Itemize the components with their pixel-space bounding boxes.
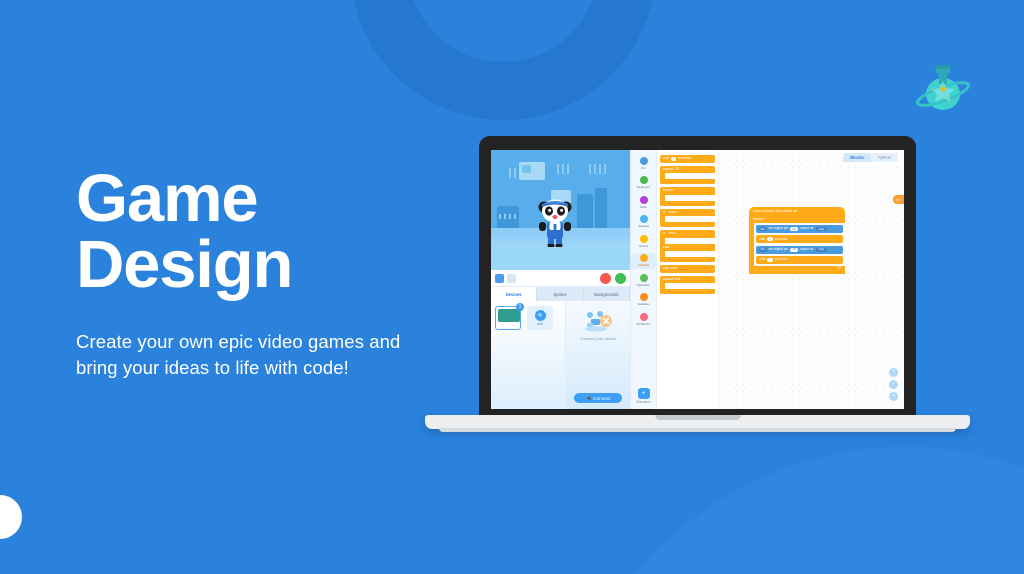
connect-message: Connect your device (580, 336, 616, 341)
category-serial-port[interactable]: Serial port (631, 175, 656, 191)
tab-backgrounds[interactable]: Backgrounds (584, 287, 630, 301)
block-tag: Pin (759, 227, 767, 231)
zoom-in-button[interactable]: + (889, 368, 898, 377)
category-label: Data (640, 205, 646, 209)
block-text: seconds (678, 157, 691, 161)
block-tag: Pin (759, 248, 767, 252)
block-text: repeat (663, 168, 673, 172)
zoom-out-button[interactable]: − (889, 380, 898, 389)
stage-controls (491, 270, 630, 287)
category-label: Pin (641, 166, 645, 170)
block-text: if (663, 232, 665, 236)
category-control[interactable]: Control (631, 253, 656, 269)
device-card[interactable]: 1 (495, 306, 521, 330)
plus-icon: + (535, 310, 546, 321)
lab-cabinet-2 (595, 188, 607, 228)
lab-window-3 (589, 164, 607, 174)
category-operators[interactable]: Operators (631, 272, 656, 288)
laptop-notch (655, 415, 741, 420)
category-dot-icon (640, 293, 648, 301)
connect-illustration (581, 309, 615, 333)
wait-block[interactable]: wait 1 seconds (756, 235, 843, 243)
category-dot-icon (640, 215, 648, 223)
block-head: if then (660, 230, 715, 238)
workspace-tabs: Blocks Python (843, 153, 898, 162)
headline-line-1: Game (76, 166, 416, 232)
category-dot-icon (640, 254, 648, 262)
forever-label: forever (749, 216, 845, 224)
laptop-foot (439, 428, 956, 432)
headline-line-2: Design (76, 232, 416, 298)
device-badge: 1 (516, 303, 524, 311)
page-title: Game Design (76, 166, 416, 299)
extension-area: + Extension (637, 388, 651, 404)
plug-icon: 🔌 (586, 395, 592, 401)
editor-left-column: Devices Sprites Backgrounds 1 + add (491, 150, 631, 409)
script-stack[interactable]: when Arduino Uno starts up forever Pin s… (749, 207, 845, 274)
connect-button[interactable]: 🔌 Connect (574, 393, 622, 403)
block-text: forever (663, 189, 674, 193)
state-dropdown[interactable]: high (816, 227, 828, 231)
forever-block[interactable]: forever Pin set digital pin 13 output as… (749, 216, 845, 274)
add-device-button[interactable]: + add (527, 306, 553, 330)
block-text: repeat until (663, 278, 680, 282)
block-input[interactable]: 10 (675, 168, 679, 172)
category-dot-icon (640, 196, 648, 204)
connect-panel: Connect your device 🔌 Connect (565, 301, 630, 409)
block-text: wait until (663, 267, 677, 271)
lab-grill (499, 214, 516, 219)
block-foot (660, 289, 715, 292)
loop-arrow-icon: ↺ (749, 266, 845, 270)
code-toggle-button[interactable]: </> (893, 195, 904, 204)
block-foot (660, 179, 715, 182)
device-panel: 1 + add (491, 301, 630, 409)
block-text: wait (663, 157, 669, 161)
code-workspace[interactable]: Blocks Python </> when Arduino Uno start… (719, 150, 904, 409)
block-foot (660, 257, 715, 260)
block-palette[interactable]: wait 1 seconds repeat 10 (657, 150, 719, 409)
block-text: wait (759, 238, 765, 241)
tab-devices[interactable]: Devices (491, 287, 537, 301)
add-device-label: add (537, 322, 543, 326)
tab-python[interactable]: Python (871, 153, 898, 162)
set-digital-pin-block[interactable]: Pin set digital pin 13 output as high (756, 246, 843, 254)
palette-block-wait-until[interactable]: wait until (660, 265, 715, 273)
palette-block-forever[interactable]: forever (660, 187, 715, 206)
palette-block-if-then[interactable]: if then (660, 209, 715, 228)
tab-sprites[interactable]: Sprites (537, 287, 583, 301)
editor-screen: Devices Sprites Backgrounds 1 + add (491, 150, 904, 409)
block-text: output as (800, 248, 814, 251)
small-stage-icon[interactable] (495, 274, 504, 283)
block-text: if (663, 211, 665, 215)
category-sensing[interactable]: Sensing (631, 214, 656, 230)
category-dot-icon (640, 176, 648, 184)
palette-block-if-then-else[interactable]: if then else (660, 230, 715, 262)
decorative-dot (0, 495, 22, 539)
hero-copy: Game Design Create your own epic video g… (76, 166, 416, 382)
category-events[interactable]: Events (631, 233, 656, 249)
block-else-head: else (660, 244, 715, 252)
block-head: repeat 10 (660, 166, 715, 174)
block-foot (660, 222, 715, 225)
wait-block[interactable]: wait 1 seconds (756, 256, 843, 264)
category-label: Serial port (637, 185, 650, 189)
block-text: then (669, 211, 676, 215)
pin-input[interactable]: 13 (790, 227, 797, 231)
pin-input[interactable]: 13 (790, 248, 797, 252)
zoom-reset-button[interactable]: = (889, 392, 898, 401)
planet-flask-logo (912, 57, 974, 119)
block-head: forever (660, 187, 715, 195)
block-text: set digital pin (769, 248, 789, 251)
tab-blocks[interactable]: Blocks (843, 153, 871, 162)
set-digital-pin-block[interactable]: Pin set digital pin 13 output as high (756, 225, 843, 233)
device-thumbnail (498, 309, 520, 322)
block-text: wait (759, 258, 765, 261)
category-label: Variables (637, 302, 649, 306)
add-extension-button[interactable]: + (638, 388, 650, 399)
block-head: if then (660, 209, 715, 217)
category-label: Sensing (638, 224, 649, 228)
large-stage-icon[interactable] (507, 274, 516, 283)
block-input[interactable]: 1 (671, 157, 676, 161)
category-label: Events (639, 244, 648, 248)
block-text: else (663, 246, 669, 250)
category-variables[interactable]: Variables (631, 292, 656, 308)
stage-preview[interactable] (491, 150, 630, 270)
decorative-blob (555, 447, 1024, 574)
go-button[interactable] (615, 273, 626, 284)
category-label: Control (638, 263, 648, 267)
palette-block-repeat[interactable]: repeat 10 (660, 166, 715, 185)
zoom-controls: + − = (889, 368, 898, 401)
decorative-ring (350, 0, 656, 120)
category-label: Operators (637, 283, 650, 287)
category-dot-icon (640, 313, 648, 321)
palette-block-repeat-until[interactable]: repeat until (660, 276, 715, 295)
category-data[interactable]: Data (631, 194, 656, 210)
stop-button[interactable] (600, 273, 611, 284)
forever-body: Pin set digital pin 13 output as high wa… (754, 223, 845, 266)
category-dot-icon (640, 235, 648, 243)
block-text: seconds (775, 258, 788, 261)
state-dropdown[interactable]: high (816, 248, 828, 252)
lab-cabinet (577, 194, 593, 228)
category-pin[interactable]: Pin (631, 155, 656, 171)
category-dot-icon (640, 274, 648, 282)
palette-block-wait[interactable]: wait 1 seconds (660, 155, 715, 163)
hat-block[interactable]: when Arduino Uno starts up (749, 207, 845, 216)
hero-banner: Game Design Create your own epic video g… (0, 0, 1024, 574)
wait-input[interactable]: 1 (767, 258, 773, 262)
connect-button-label: Connect (593, 396, 610, 401)
category-sidebar: Pin Serial port Data Sensing (631, 150, 657, 409)
block-foot (660, 201, 715, 204)
block-text: set digital pin (769, 227, 789, 230)
block-text: output as (800, 227, 814, 230)
lab-floor (491, 246, 630, 270)
block-text: seconds (775, 238, 788, 241)
editor-tabs: Devices Sprites Backgrounds (491, 287, 630, 301)
block-head: repeat until (660, 276, 715, 284)
category-my-blocks[interactable]: My Blocks (631, 311, 656, 327)
lab-poster-inner (522, 165, 531, 173)
extension-label: Extension (637, 400, 651, 404)
panda-mascot[interactable] (535, 192, 575, 248)
lab-window (509, 168, 519, 178)
hero-subcopy: Create your own epic video games and bri… (76, 329, 416, 383)
wait-input[interactable]: 1 (767, 237, 773, 241)
block-condition-slot[interactable] (679, 269, 687, 270)
category-label: My Blocks (637, 322, 650, 326)
laptop-lid: Devices Sprites Backgrounds 1 + add (479, 136, 916, 418)
category-dot-icon (640, 157, 648, 165)
lab-window-2 (557, 164, 571, 174)
block-text: then (669, 232, 676, 236)
laptop-mockup: Devices Sprites Backgrounds 1 + add (425, 136, 970, 441)
